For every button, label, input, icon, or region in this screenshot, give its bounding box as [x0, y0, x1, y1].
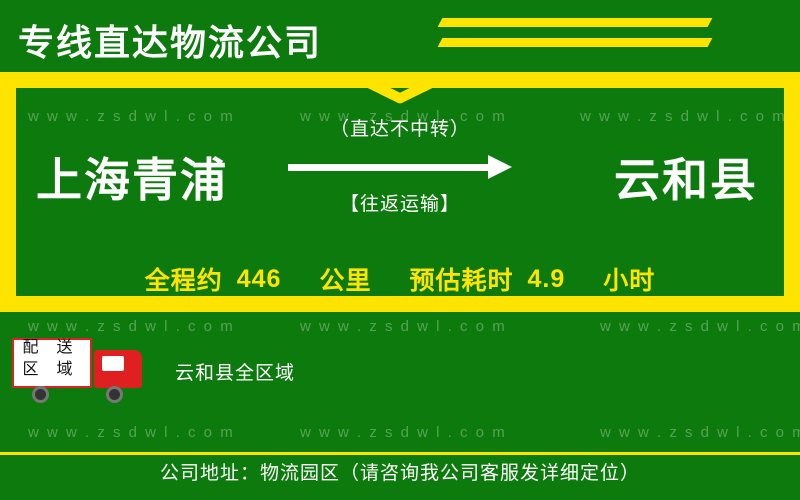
footer-address: 公司地址：物流园区（请咨询我公司客服发详细定位） [0, 458, 800, 485]
delivery-badge-line2: 区 域 [12, 359, 84, 381]
chevron-decoration [430, 16, 770, 60]
delivery-section: 配 送 区 域 云和县全区域 [0, 330, 800, 410]
duration-value: 4.9 [527, 265, 565, 294]
route-middle: （直达不中转） 【往返运输】 [282, 114, 518, 216]
delivery-badge-line1: 配 送 [12, 337, 84, 359]
distance-unit: 公里 [319, 261, 371, 297]
destination-city: 云和县 [614, 150, 758, 210]
stats-strip: 全程约446 公里 预估耗时4.9 小时 [16, 262, 784, 296]
distance-value: 446 [237, 265, 282, 294]
duration-unit: 小时 [603, 261, 655, 297]
route-note-bottom: 【往返运输】 [282, 189, 518, 216]
frame-bottom [0, 296, 800, 312]
distance-label: 全程约 [145, 261, 223, 297]
watermark-text: w w w . z s d w l . c o m [580, 108, 787, 125]
watermark-text: w w w . z s d w l . c o m [300, 424, 507, 441]
origin-city: 上海青浦 [36, 150, 228, 210]
route-section: 上海青浦 云和县 （直达不中转） 【往返运输】 [0, 150, 800, 260]
page-title: 专线直达物流公司 [18, 14, 322, 66]
delivery-area-text: 云和县全区域 [175, 358, 295, 385]
truck-icon: 配 送 区 域 [8, 334, 168, 406]
route-note-top: （直达不中转） [282, 114, 518, 141]
watermark-text: w w w . z s d w l . c o m [600, 424, 800, 441]
frame-notch-icon [360, 80, 440, 106]
watermark-text: w w w . z s d w l . c o m [28, 424, 235, 441]
logistics-poster: w w w . z s d w l . c o m w w w . z s d … [0, 0, 800, 500]
footer-divider [0, 452, 800, 455]
arrow-right-icon [282, 151, 518, 185]
watermark-text: w w w . z s d w l . c o m [28, 108, 235, 125]
header-band: 专线直达物流公司 [0, 0, 800, 72]
duration-label: 预估耗时 [409, 261, 513, 297]
